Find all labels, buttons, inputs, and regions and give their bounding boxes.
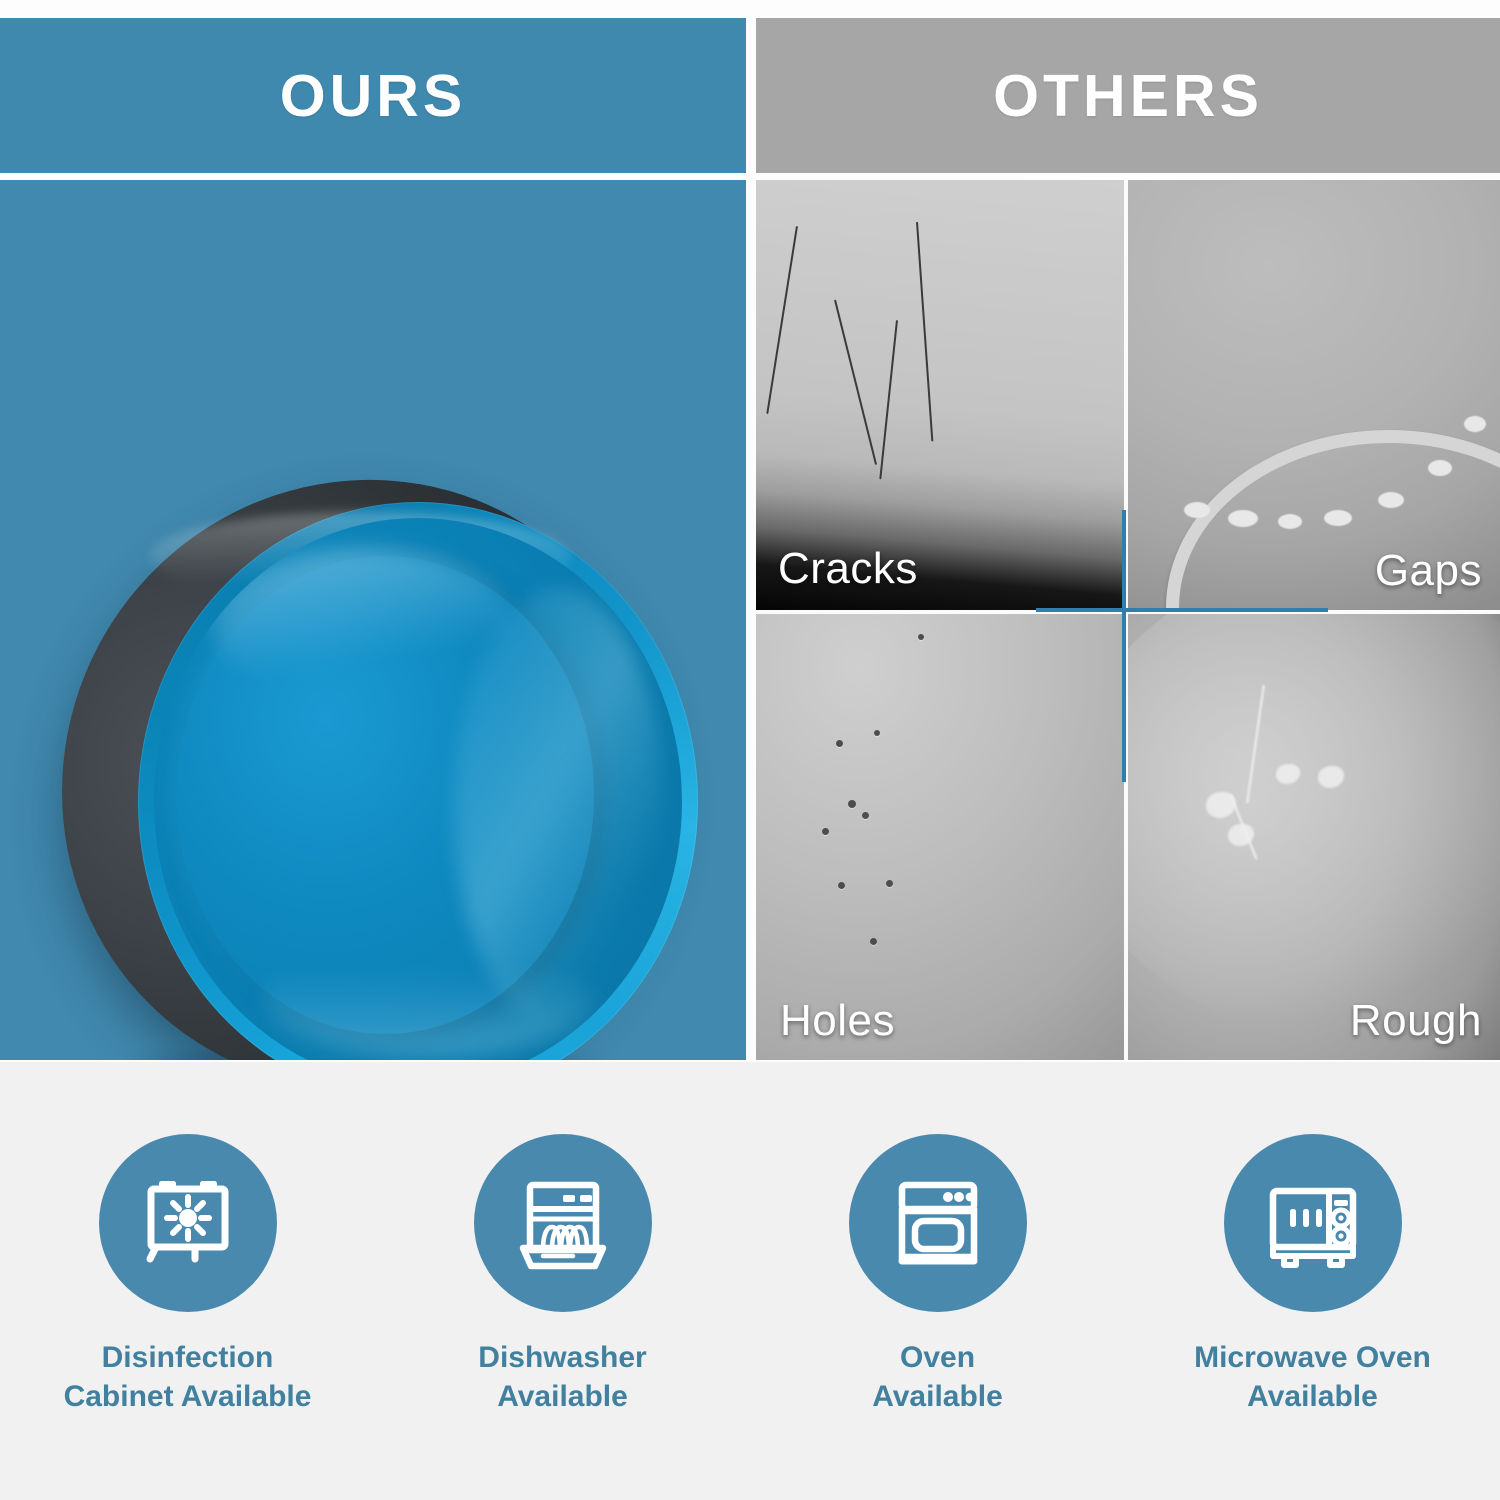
pinhole [838,882,845,889]
pinhole [870,938,877,945]
ours-product-panel [0,180,746,1060]
pinhole [918,634,924,640]
feature-label: Disinfection Cabinet Available [64,1338,312,1416]
features-row: Disinfection Cabinet Available [0,1062,1500,1500]
comparison-infographic: OURS OTHERS [0,0,1500,1500]
defect-tile-gaps: Gaps [1128,180,1500,610]
others-defects-panel: Cracks Gaps [756,180,1500,1060]
defect-label-holes: Holes [780,996,895,1046]
feature-icon-circle [474,1134,652,1312]
feature-label: Oven Available [872,1338,1003,1416]
others-header-bar: OTHERS [756,18,1500,173]
pinhole [836,740,843,747]
holes-photo [756,614,1124,1060]
microwave-oven-icon [1261,1171,1365,1275]
feature-dishwasher[interactable]: Dishwasher Available [398,1134,728,1416]
pinhole [886,880,893,887]
defect-label-gaps: Gaps [1375,546,1482,596]
gap-bead [1324,510,1352,526]
pinhole [848,800,856,808]
others-header-label: OTHERS [993,62,1263,130]
accent-divider-horizontal [1036,608,1328,612]
feature-disinfection-cabinet[interactable]: Disinfection Cabinet Available [23,1134,353,1416]
crack-line [834,300,877,465]
feature-microwave-oven[interactable]: Microwave Oven Available [1148,1134,1478,1416]
features-strip: Disinfection Cabinet Available [0,1062,1500,1500]
feature-icon-circle [1224,1134,1402,1312]
ours-header-label: OURS [280,62,466,130]
pinhole [822,828,829,835]
feature-icon-circle [99,1134,277,1312]
gap-bead [1278,514,1302,529]
crack-line [879,320,898,479]
ours-header-bar: OURS [0,18,746,173]
crack-line [766,226,798,414]
crack-line [916,222,933,442]
gap-bead [1228,510,1258,527]
pan-gloss-top [212,548,512,698]
defect-tile-holes: Holes [756,614,1124,1060]
rough-photo [1128,614,1500,1060]
dishwasher-icon [511,1171,615,1275]
rough-surface-sheen [1128,614,1500,1034]
pan-interior [154,518,682,1060]
product-photo [0,180,746,1060]
gap-bead [1428,460,1452,476]
defect-tile-cracks: Cracks [756,180,1124,610]
gap-bead [1184,502,1210,518]
defect-label-cracks: Cracks [778,544,918,594]
feature-icon-circle [849,1134,1027,1312]
feature-label: Dishwasher Available [478,1338,646,1416]
defect-tile-rough: Rough [1128,614,1500,1060]
pinhole [862,812,869,819]
oven-icon [886,1171,990,1275]
feature-label: Microwave Oven Available [1194,1338,1431,1416]
disinfection-cabinet-icon [136,1171,240,1275]
pinhole [874,730,880,736]
gap-bead [1464,416,1486,432]
accent-divider-vertical [1122,510,1126,782]
defect-label-rough: Rough [1350,996,1482,1046]
header-row: OURS OTHERS [0,18,1500,173]
pan-gloss-bottom [264,938,594,1058]
gap-bead [1378,492,1404,508]
feature-oven[interactable]: Oven Available [773,1134,1103,1416]
